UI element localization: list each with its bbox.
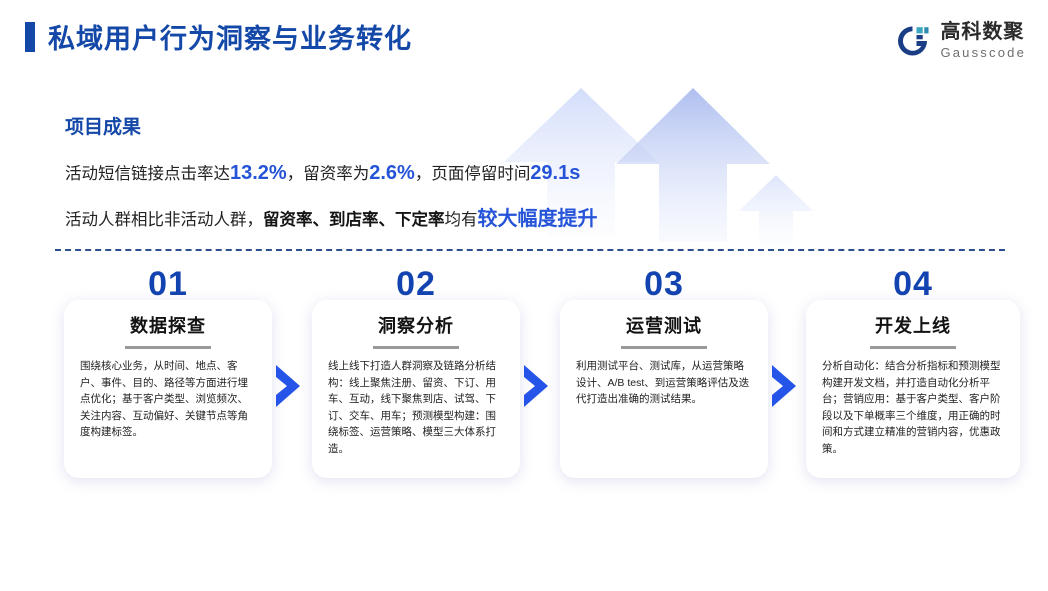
chevron-right-icon-2: [520, 363, 554, 414]
step-rule-03: [621, 346, 707, 349]
results-line1-part1: 活动短信链接点击率达: [65, 165, 230, 183]
page-header: 私域用户行为洞察与业务转化 高科数聚 Gausscode: [0, 0, 1048, 80]
results-dwelltime-value: 29.1s: [530, 162, 580, 184]
results-ctr-value: 13.2%: [230, 162, 287, 184]
step-rule-02: [373, 346, 459, 349]
step-card-01[interactable]: 01 数据探查 围绕核心业务，从时间、地点、客户、事件、目的、路径等方面进行埋点…: [64, 300, 272, 478]
step-description-03: 利用测试平台、测试库，从运营策略设计、A/B test、到运营策略评估及迭代打造…: [576, 358, 752, 408]
step-number-02: 02: [312, 265, 520, 304]
step-description-04: 分析自动化：结合分析指标和预测模型构建开发文档，并打造自动化分析平台；营销应用：…: [822, 358, 1006, 457]
step-title-02: 洞察分析: [312, 312, 520, 338]
gausscode-logo-icon: [894, 24, 931, 58]
step-description-02: 线上线下打造人群洞察及链路分析结构：线上聚焦注册、留资、下订、用车、互动，线下聚…: [328, 358, 504, 457]
section-divider: [55, 249, 1005, 251]
results-line1-part3: ，页面停留时间: [415, 165, 531, 183]
step-card-body-04: 开发上线 分析自动化：结合分析指标和预测模型构建开发文档，并打造自动化分析平台；…: [806, 300, 1020, 478]
results-line1-part2: ，留资率为: [287, 165, 370, 183]
step-description-01: 围绕核心业务，从时间、地点、客户、事件、目的、路径等方面进行埋点优化；基于客户类…: [80, 358, 256, 441]
results-metrics-bold: 留资率、到店率、下定率: [263, 211, 445, 229]
brand-logo: 高科数聚 Gausscode: [894, 22, 1026, 59]
chevron-right-icon-1: [272, 363, 306, 414]
results-improvement-value: 较大幅度提升: [478, 208, 598, 230]
chevron-right-icon-3: [768, 363, 802, 414]
logo-name-en: Gausscode: [940, 46, 1026, 59]
step-card-body-01: 数据探查 围绕核心业务，从时间、地点、客户、事件、目的、路径等方面进行埋点优化；…: [64, 300, 272, 478]
arrow-up-small-icon: [735, 173, 817, 254]
results-line-2: 活动人群相比非活动人群，留资率、到店率、下定率均有较大幅度提升: [65, 202, 598, 231]
results-line2-part1: 活动人群相比非活动人群，: [65, 211, 263, 229]
step-title-03: 运营测试: [560, 312, 768, 338]
step-rule-04: [870, 346, 956, 349]
results-line-1: 活动短信链接点击率达13.2%，留资率为2.6%，页面停留时间29.1s: [65, 160, 580, 185]
process-steps: 01 数据探查 围绕核心业务，从时间、地点、客户、事件、目的、路径等方面进行埋点…: [0, 270, 1048, 520]
step-number-01: 01: [64, 265, 272, 304]
step-number-03: 03: [560, 265, 768, 304]
step-card-body-02: 洞察分析 线上线下打造人群洞察及链路分析结构：线上聚焦注册、留资、下订、用车、互…: [312, 300, 520, 478]
page-title: 私域用户行为洞察与业务转化: [48, 17, 412, 56]
step-card-body-03: 运营测试 利用测试平台、测试库，从运营策略设计、A/B test、到运营策略评估…: [560, 300, 768, 478]
step-card-02[interactable]: 02 洞察分析 线上线下打造人群洞察及链路分析结构：线上聚焦注册、留资、下订、用…: [312, 300, 520, 478]
step-card-03[interactable]: 03 运营测试 利用测试平台、测试库，从运营策略设计、A/B test、到运营策…: [560, 300, 768, 478]
step-card-04[interactable]: 04 开发上线 分析自动化：结合分析指标和预测模型构建开发文档，并打造自动化分析…: [806, 300, 1020, 478]
results-heading: 项目成果: [65, 112, 141, 139]
logo-text-block: 高科数聚 Gausscode: [940, 22, 1026, 59]
step-number-04: 04: [806, 265, 1020, 304]
logo-name-cn: 高科数聚: [940, 22, 1026, 42]
step-title-01: 数据探查: [64, 312, 272, 338]
step-title-04: 开发上线: [806, 312, 1020, 338]
results-line2-part2: 均有: [445, 211, 478, 229]
results-leadrate-value: 2.6%: [369, 162, 415, 184]
step-rule-01: [125, 346, 211, 349]
title-accent-marker: [25, 22, 35, 52]
